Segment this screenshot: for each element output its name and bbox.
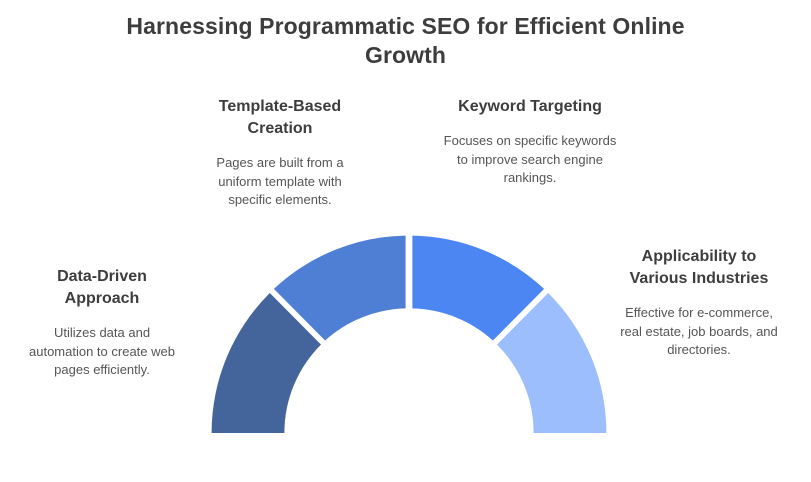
label-heading: Keyword Targeting xyxy=(440,96,620,118)
label-heading: Template-Based Creation xyxy=(200,96,360,140)
label-description: Utilizes data and automation to create w… xyxy=(26,310,178,380)
half-donut-svg xyxy=(211,235,607,433)
label-description: Effective for e-commerce, real estate, j… xyxy=(620,290,778,360)
half-donut-chart xyxy=(211,235,607,433)
label-data-driven-approach: Data-Driven Approach Utilizes data and a… xyxy=(26,266,178,380)
infographic-root: Harnessing Programmatic SEO for Efficien… xyxy=(0,0,811,482)
label-template-based-creation: Template-Based Creation Pages are built … xyxy=(200,96,360,210)
label-description: Pages are built from a uniform template … xyxy=(200,140,360,210)
label-heading: Data-Driven Approach xyxy=(26,266,178,310)
label-description: Focuses on specific keywords to improve … xyxy=(440,118,620,188)
label-keyword-targeting: Keyword Targeting Focuses on specific ke… xyxy=(440,96,620,188)
label-applicability-to-various-industries: Applicability to Various Industries Effe… xyxy=(620,246,778,360)
label-heading: Applicability to Various Industries xyxy=(620,246,778,290)
page-title: Harnessing Programmatic SEO for Efficien… xyxy=(105,12,706,70)
